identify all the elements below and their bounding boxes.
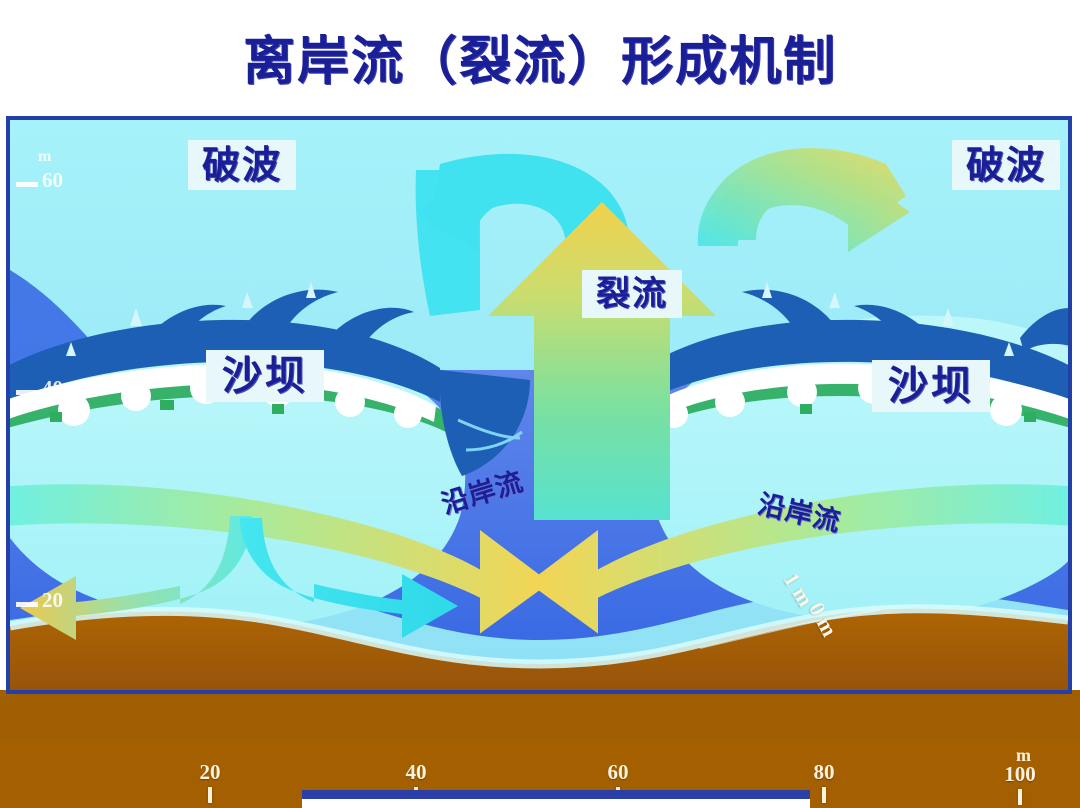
label-sandbar-left: 沙坝 xyxy=(206,350,324,402)
label-rip-current: 裂流 xyxy=(582,270,682,318)
y-tick-40-mark xyxy=(16,390,38,395)
x-axis-baseline xyxy=(302,799,810,808)
y-tick-40-label: 40 xyxy=(42,376,63,401)
x-axis-line xyxy=(302,790,810,799)
label-breaking-wave-left: 破波 xyxy=(188,140,296,190)
diagram-frame: m 60 40 20 破波 破波 沙坝 沙坝 裂流 沿岸流 沿岸流 1 m 0 … xyxy=(6,116,1072,694)
y-tick-60-mark xyxy=(16,182,38,187)
page-title: 离岸流（裂流）形成机制 xyxy=(243,19,837,94)
x-tick-100-mark xyxy=(1018,789,1022,805)
label-sandbar-right: 沙坝 xyxy=(872,360,990,412)
diagram-page: 离岸流（裂流）形成机制 20 40 60 80 m 100 xyxy=(0,0,1080,808)
x-tick-100: 100 xyxy=(996,762,1044,805)
x-tick-20: 20 xyxy=(186,760,234,803)
diagram-scene: m 60 40 20 破波 破波 沙坝 沙坝 裂流 沿岸流 沿岸流 1 m 0 … xyxy=(10,120,1068,690)
x-tick-80-label: 80 xyxy=(814,760,835,784)
y-axis-unit: m xyxy=(38,148,51,166)
y-tick-20-mark xyxy=(16,602,38,607)
y-axis: m 60 40 20 xyxy=(10,120,80,690)
y-tick-20-label: 20 xyxy=(42,588,63,613)
x-tick-20-mark xyxy=(208,787,212,803)
y-tick-60-label: 60 xyxy=(42,168,63,193)
x-tick-20-label: 20 xyxy=(200,760,221,784)
x-tick-80-mark xyxy=(822,787,826,803)
label-breaking-wave-right: 破波 xyxy=(952,140,1060,190)
title-bar: 离岸流（裂流）形成机制 xyxy=(0,0,1080,112)
x-tick-100-label: 100 xyxy=(1004,762,1036,786)
x-tick-40-label: 40 xyxy=(406,760,427,784)
x-tick-60-label: 60 xyxy=(608,760,629,784)
